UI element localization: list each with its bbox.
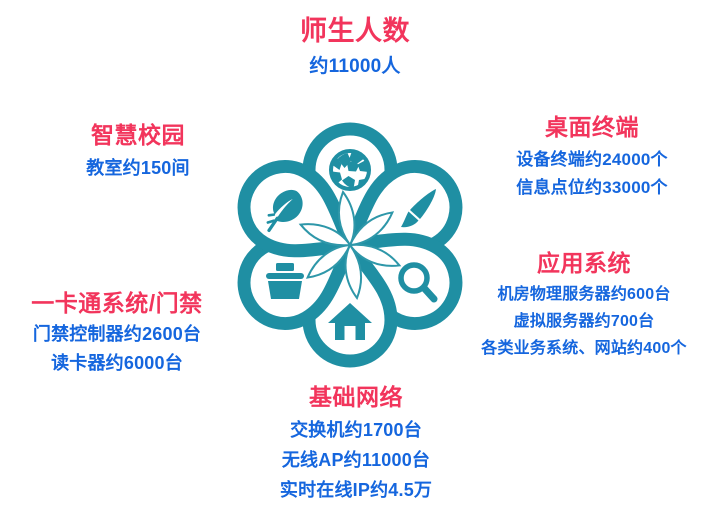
- card-access-line-1: 门禁控制器约2600台: [6, 322, 228, 348]
- applications-title: 应用系统: [458, 250, 710, 276]
- stat-block-smart-campus: 智慧校园 教室约150间: [38, 122, 238, 182]
- desktop-line-1: 设备终端约24000个: [474, 148, 710, 172]
- students-title: 师生人数: [0, 16, 710, 47]
- students-line-1: 约11000人: [0, 54, 710, 81]
- network-line-3: 实时在线IP约4.5万: [228, 478, 484, 504]
- globe-icon: [331, 151, 369, 189]
- applications-line-3: 各类业务系统、网站约400个: [458, 338, 710, 361]
- applications-line-2: 虚拟服务器约700台: [458, 311, 710, 334]
- flower-diagram: [205, 100, 495, 390]
- stat-block-card-access: 一卡通系统/门禁 门禁控制器约2600台 读卡器约6000台: [6, 290, 228, 377]
- card-access-title: 一卡通系统/门禁: [6, 290, 228, 316]
- infographic-canvas: 师生人数 约11000人 智慧校园 教室约150间 一卡通系统/门禁 门禁控制器…: [0, 0, 710, 522]
- stat-block-network: 基础网络 交换机约1700台 无线AP约11000台 实时在线IP约4.5万: [228, 384, 484, 503]
- network-line-2: 无线AP约11000台: [228, 448, 484, 474]
- desktop-line-2: 信息点位约33000个: [474, 176, 710, 200]
- stat-block-students: 师生人数 约11000人: [0, 16, 710, 81]
- stat-block-desktop-terminals: 桌面终端 设备终端约24000个 信息点位约33000个: [474, 114, 710, 200]
- campus-title: 智慧校园: [38, 122, 238, 148]
- applications-line-1: 机房物理服务器约600台: [458, 284, 710, 307]
- desktop-title: 桌面终端: [474, 114, 710, 140]
- network-line-1: 交换机约1700台: [228, 418, 484, 444]
- card-access-line-2: 读卡器约6000台: [6, 351, 228, 377]
- campus-line-1: 教室约150间: [38, 156, 238, 182]
- network-title: 基础网络: [228, 384, 484, 410]
- stat-block-applications: 应用系统 机房物理服务器约600台 虚拟服务器约700台 各类业务系统、网站约4…: [458, 250, 710, 361]
